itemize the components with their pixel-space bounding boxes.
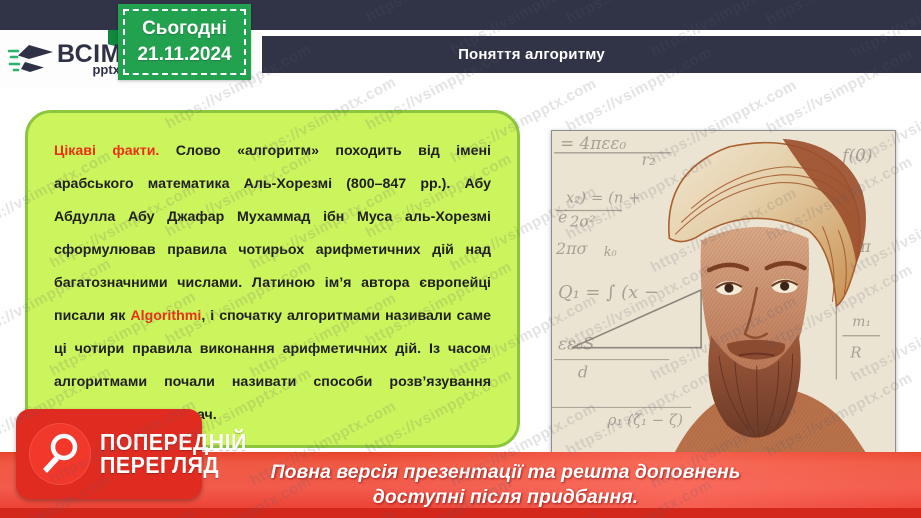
svg-text:f(0): f(0): [840, 145, 872, 165]
magnifier-icon: [29, 423, 91, 485]
logo-wordmark: ВСІМ pptx: [57, 43, 122, 76]
body-text-2: , і спочатку алгоритмами називали саме ц…: [54, 308, 491, 423]
date-badge-date: 21.11.2024: [137, 42, 231, 68]
brand-logo[interactable]: ВСІМ pptx: [8, 34, 128, 84]
body-text-1: Слово «алгоритм» походить від імені араб…: [54, 143, 491, 324]
preview-badge: ПОПЕРЕДНІЙ ПЕРЕГЛЯД: [16, 409, 202, 499]
svg-text:m₁: m₁: [852, 314, 871, 330]
svg-text:x₂) = (n +: x₂) = (n +: [566, 189, 641, 207]
preview-badge-line2: ПЕРЕГЛЯД: [100, 454, 247, 477]
svg-text:d: d: [578, 363, 588, 382]
slide-root: Поняття алгоритму ВСІМ pptx: [0, 0, 921, 518]
purchase-banner-line2: доступні після придбання.: [373, 485, 638, 510]
preview-badge-line1: ПОПЕРЕДНІЙ: [100, 431, 247, 454]
header-title-bar: Поняття алгоритму: [262, 36, 921, 73]
date-badge: Сьогодні 21.11.2024: [118, 4, 251, 80]
latin-name-highlight: Algorithmi: [130, 308, 201, 324]
svg-text:εε₀S: εε₀S: [558, 334, 594, 354]
content-card-inner: Цікаві факти. Слово «алгоритм» походить …: [28, 113, 517, 431]
purchase-banner-line1: Повна версія презентації та решта доповн…: [271, 460, 741, 485]
date-badge-label: Сьогодні: [142, 16, 227, 42]
svg-text:= 4πεε₀: = 4πεε₀: [560, 133, 626, 153]
graduation-cap-icon: [8, 40, 54, 78]
preview-badge-text: ПОПЕРЕДНІЙ ПЕРЕГЛЯД: [100, 431, 258, 478]
lead-highlight: Цікаві факти.: [54, 143, 159, 159]
content-paragraph: Цікаві факти. Слово «алгоритм» походить …: [54, 135, 491, 431]
page-title: Поняття алгоритму: [458, 46, 605, 63]
al-khwarizmi-portrait: = 4πεε₀ r₂ x₂) = (n + 2σ² e 2πσ k₀ Q₁ = …: [551, 130, 896, 460]
svg-text:k₀: k₀: [604, 245, 618, 260]
svg-text:R: R: [849, 344, 861, 362]
svg-text:ρ₁ (ζ₁ − ζ): ρ₁ (ζ₁ − ζ): [607, 411, 683, 429]
content-card: Цікаві факти. Слово «алгоритм» походить …: [25, 110, 520, 448]
svg-text:2σ²: 2σ²: [569, 212, 596, 230]
svg-text:Q₁ = ∫ (x −: Q₁ = ∫ (x −: [558, 282, 659, 303]
svg-text:2πσ: 2πσ: [555, 239, 589, 258]
